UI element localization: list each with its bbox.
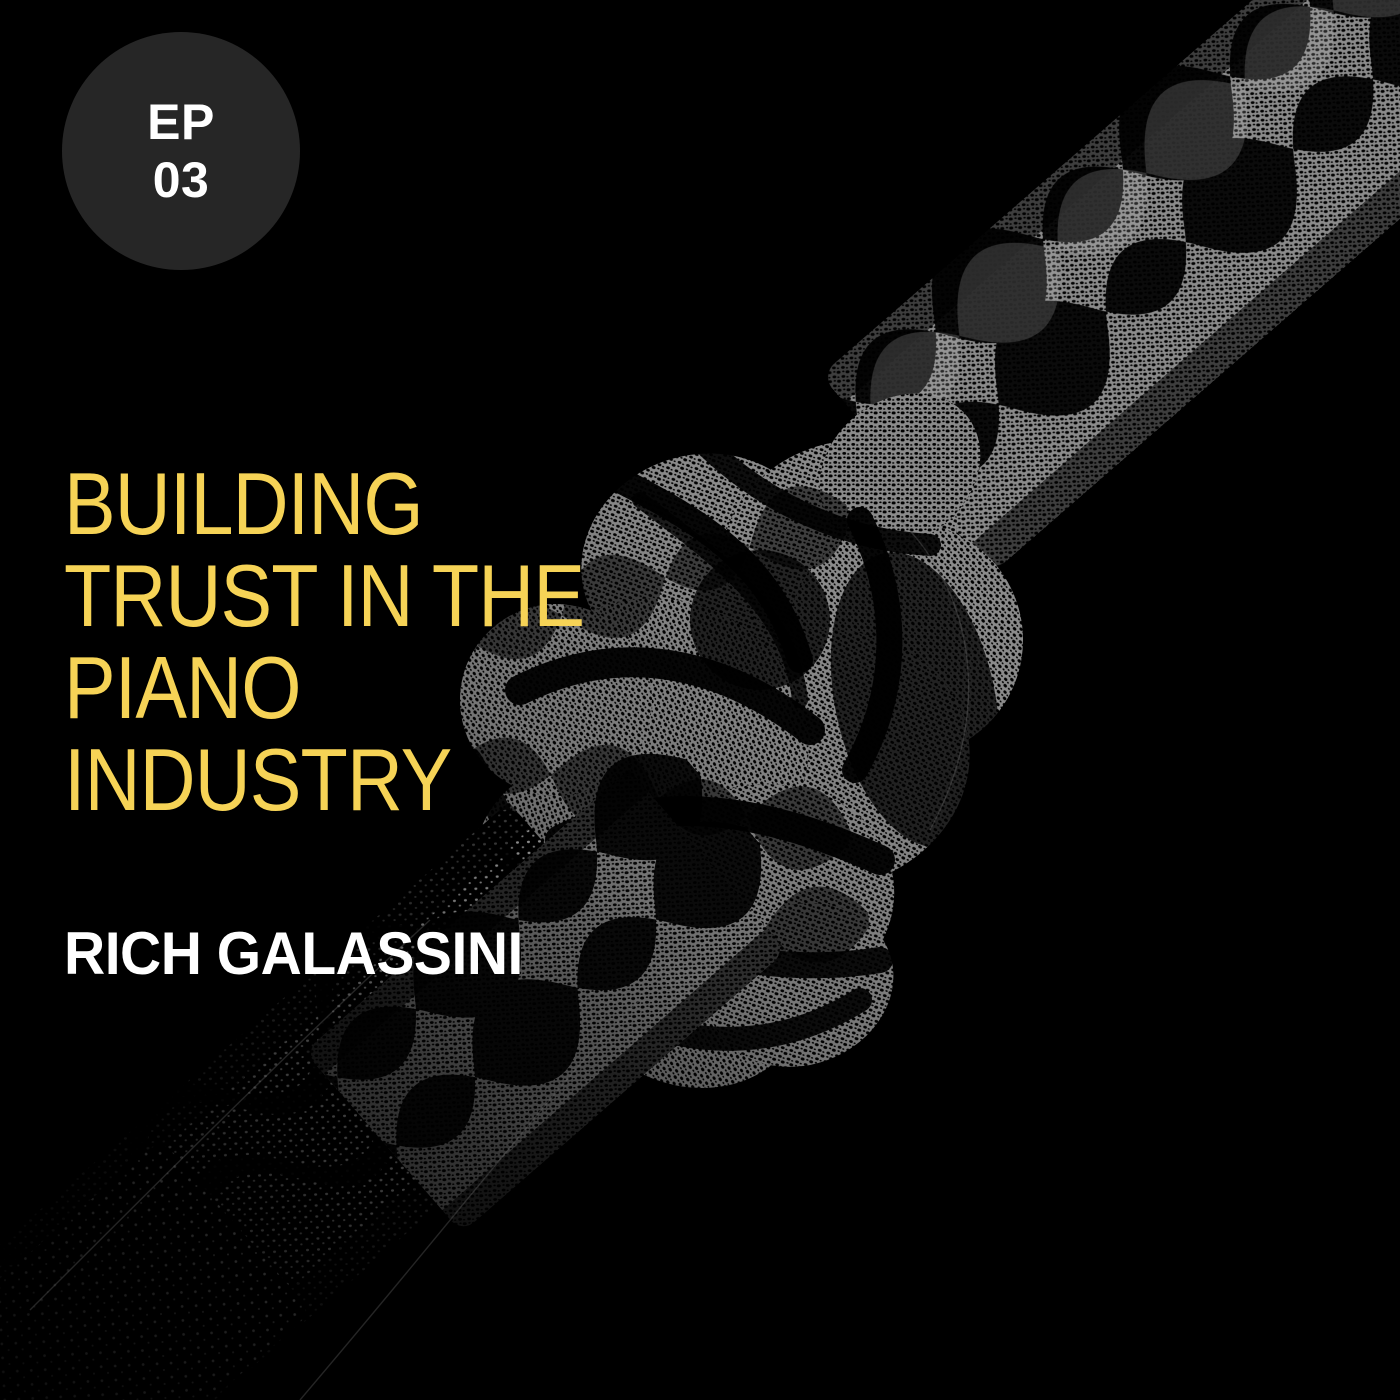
episode-title: BUILDING TRUST IN THE PIANO INDUSTRY	[64, 458, 964, 826]
episode-title-line-2: TRUST IN THE	[64, 550, 856, 642]
episode-title-line-3: PIANO	[64, 642, 856, 734]
episode-badge-line-1: EP	[147, 93, 215, 151]
episode-title-line-1: BUILDING	[64, 458, 856, 550]
episode-title-line-4: INDUSTRY	[64, 734, 856, 826]
guest-name: RICH GALASSINI	[64, 924, 523, 984]
episode-badge-line-2: 03	[153, 151, 210, 209]
episode-badge: EP 03	[62, 32, 300, 270]
podcast-cover-art: EP 03 BUILDING TRUST IN THE PIANO INDUST…	[0, 0, 1400, 1400]
